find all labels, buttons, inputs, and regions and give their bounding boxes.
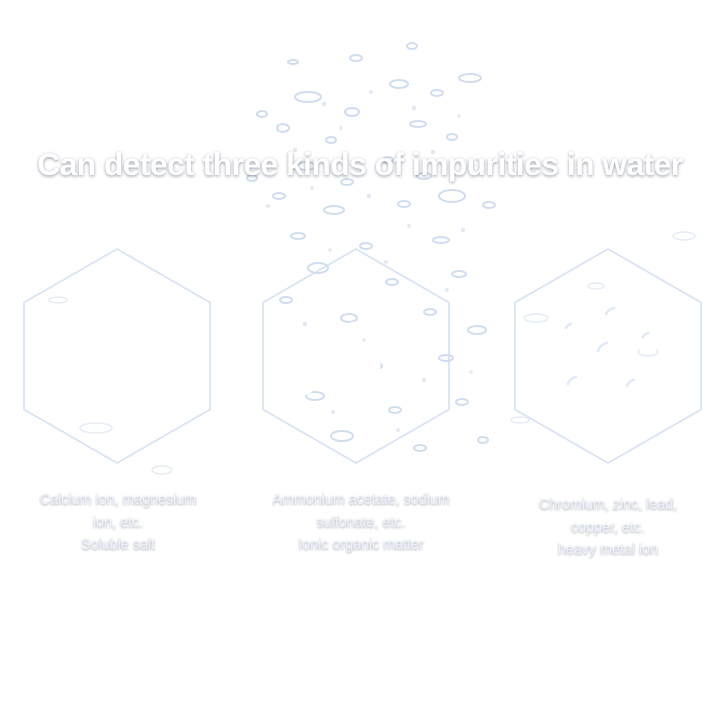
caption-line: Ionic organic matter (243, 534, 479, 557)
caption-line: sulfonate, etc. (243, 512, 479, 535)
caption-line: Ammonium acetate, sodium (243, 489, 479, 512)
caption-soluble-salt: Calcium ion, magnesium ion, etc. Soluble… (10, 489, 226, 557)
caption-line: Calcium ion, magnesium (10, 489, 226, 512)
caption-ionic-organic-matter: Ammonium acetate, sodium sulfonate, etc.… (243, 489, 479, 557)
caption-line: Soluble salt (10, 534, 226, 557)
caption-line: copper, etc. (500, 517, 716, 540)
poster-canvas: Can detect three kinds of impurities in … (0, 0, 720, 720)
caption-line: heavy metal ion (500, 539, 716, 562)
caption-row: Calcium ion, magnesium ion, etc. Soluble… (0, 0, 720, 720)
caption-line: ion, etc. (10, 512, 226, 535)
caption-line: Chromium, zinc, lead, (500, 494, 716, 517)
caption-heavy-metal-ion: Chromium, zinc, lead, copper, etc. heavy… (500, 494, 716, 562)
